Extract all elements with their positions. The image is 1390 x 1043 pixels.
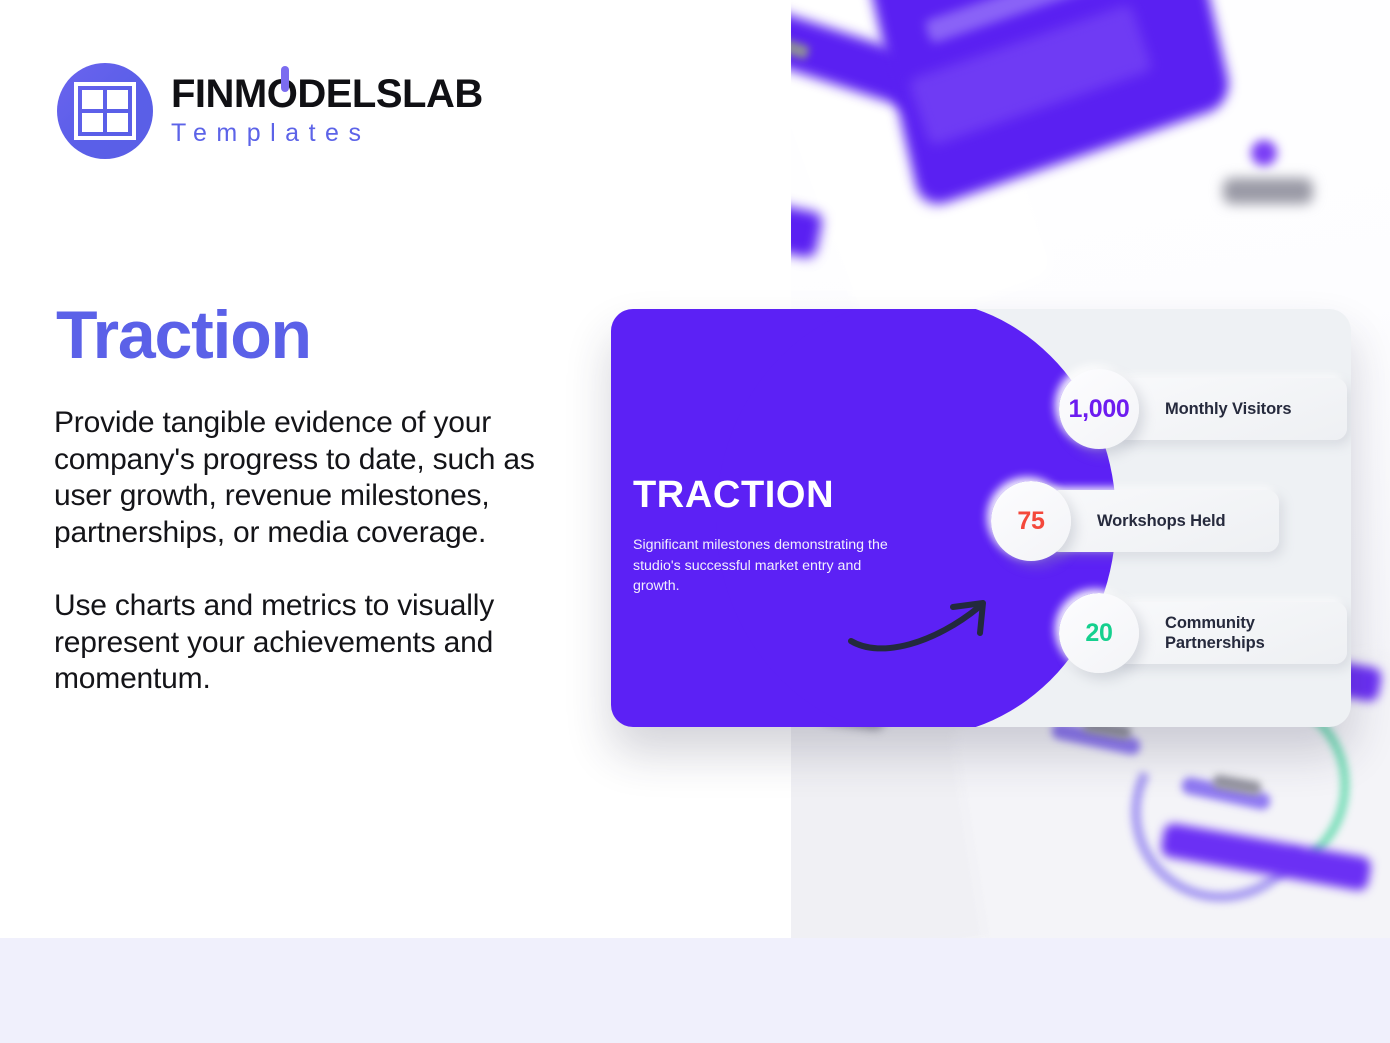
grid-glyph [74, 82, 136, 140]
grid-cell [107, 90, 128, 109]
brand-tagline: Templates [171, 117, 483, 151]
metric-value-badge: 75 [991, 481, 1071, 561]
body-paragraph-2: Use charts and metrics to visually repre… [54, 588, 599, 698]
metric-row: 1,000 Monthly Visitors [1059, 369, 1347, 449]
metric-value: 75 [1017, 509, 1044, 534]
metrics-list: 1,000 Monthly Visitors 75 Workshops Held… [991, 357, 1341, 697]
metric-label-pill: Community Partnerships [1115, 602, 1347, 664]
grid-cell [82, 113, 103, 132]
bottom-band [0, 938, 1390, 1043]
card-subtitle: Significant milestones demonstrating the… [633, 535, 891, 597]
metric-value: 20 [1085, 621, 1112, 646]
metric-value: 1,000 [1068, 397, 1129, 422]
brand-text: FINMODELSLAB Templates [171, 72, 483, 151]
grid-cell [82, 90, 103, 109]
body-paragraph-1: Provide tangible evidence of your compan… [54, 405, 599, 551]
metric-value-badge: 1,000 [1059, 369, 1139, 449]
metric-row: 75 Workshops Held [991, 481, 1279, 561]
traction-slide-card: TRACTION Significant milestones demonstr… [611, 309, 1351, 727]
grid-cell [107, 113, 128, 132]
slide-root: FINMODELSLAB Templates Traction Provide … [0, 0, 1390, 1043]
page-title: Traction [56, 300, 311, 371]
bg-purple-dot [1251, 140, 1277, 166]
metric-label-pill: Monthly Visitors [1115, 378, 1347, 440]
metric-label: Community Partnerships [1165, 613, 1265, 653]
brand-wordmark: FINMODELSLAB [171, 74, 483, 115]
metric-value-badge: 20 [1059, 593, 1139, 673]
grid-square-icon [57, 63, 153, 159]
metric-label: Workshops Held [1097, 511, 1225, 531]
bg-grey-pill [1223, 178, 1313, 204]
brand-wordmark-label: FINMODELSLAB [171, 72, 483, 116]
metric-label: Monthly Visitors [1165, 399, 1291, 419]
power-button-icon [281, 66, 289, 92]
metric-row: 20 Community Partnerships [1059, 593, 1347, 673]
body-copy: Provide tangible evidence of your compan… [54, 405, 599, 698]
curved-arrow-up-right-icon [847, 589, 1007, 659]
metric-label-pill: Workshops Held [1047, 490, 1279, 552]
brand-logo: FINMODELSLAB Templates [57, 63, 483, 159]
card-title: TRACTION [633, 476, 834, 514]
